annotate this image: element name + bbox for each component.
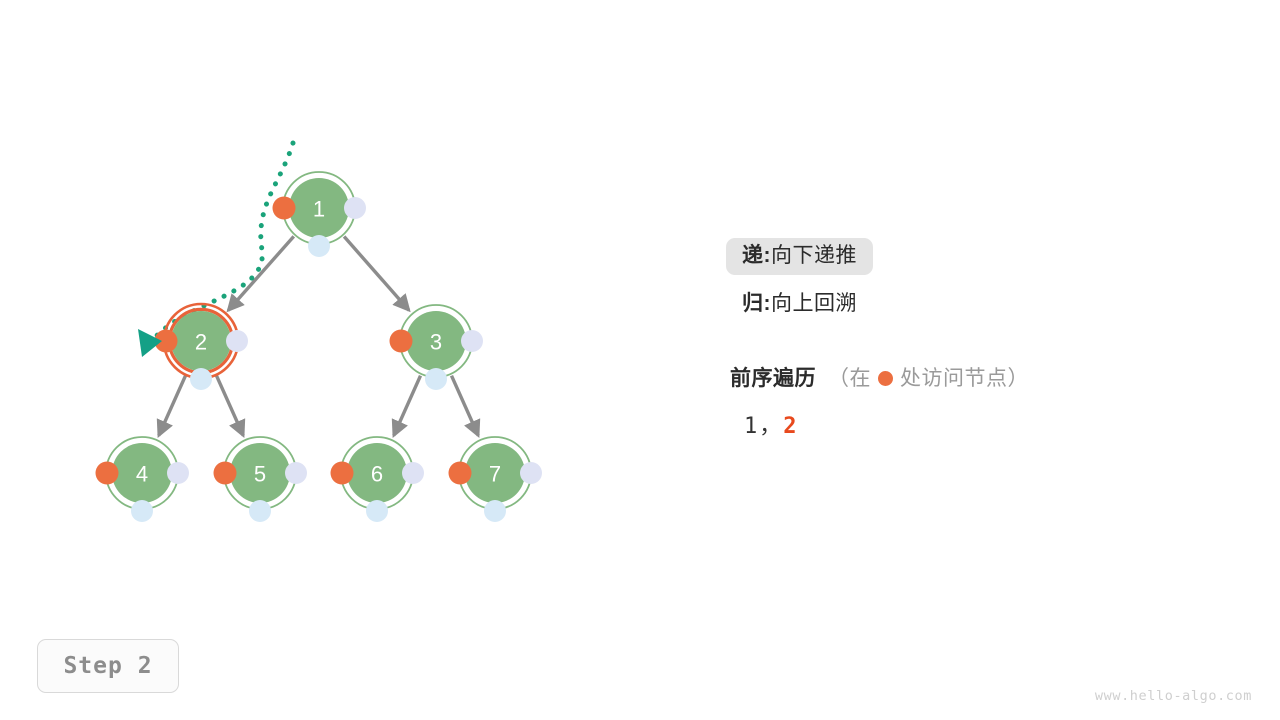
tree-node-7[interactable]: 7 [449,437,543,522]
node-label: 3 [430,330,442,355]
node-right-dot [402,462,424,484]
step-badge: Step 2 [37,639,179,693]
tree-edge [394,376,421,436]
node-visit-dot [449,462,472,485]
node-right-dot [461,330,483,352]
node-visit-dot [390,330,413,353]
traversal-note-after: 处访问节点） [900,362,1029,392]
node-right-dot [226,330,248,352]
node-label: 7 [489,462,501,487]
node-bottom-dot [484,500,506,522]
legend-panel: 递: 向下递推 归: 向上回溯 [726,232,1246,328]
traversal-heading: 前序遍历 （在 处访问节点） [730,362,1250,392]
node-label: 6 [371,462,383,487]
node-right-dot [285,462,307,484]
node-label: 5 [254,462,266,487]
node-visit-dot [214,462,237,485]
site-watermark: www.hello-algo.com [1095,688,1252,704]
node-bottom-dot [249,500,271,522]
binary-tree-diagram: 1234567 [0,0,1280,720]
tree-node-4[interactable]: 4 [96,437,190,522]
node-bottom-dot [131,500,153,522]
legend-row-recurse: 递: 向下递推 [726,232,1246,280]
traversal-sequence: 1，2 [744,408,1250,440]
step-badge-label: Step 2 [63,653,152,679]
tree-edge [159,376,186,436]
node-visit-dot [273,197,296,220]
legend-row-backtrack: 归: 向上回溯 [726,280,1246,328]
tree-node-5[interactable]: 5 [214,437,308,522]
node-right-dot [520,462,542,484]
legend-backtrack-key: 归: [742,293,771,314]
legend-badge-recurse: 递: 向下递推 [726,238,873,275]
tree-edge [344,237,409,311]
node-bottom-dot [366,500,388,522]
traversal-current: 2 [783,414,798,439]
traversal-visited: 1， [744,414,783,439]
traversal-panel: 前序遍历 （在 处访问节点） 1，2 [730,362,1250,440]
legend-backtrack-value: 向上回溯 [771,293,857,314]
node-bottom-dot [308,235,330,257]
node-right-dot [167,462,189,484]
tree-node-6[interactable]: 6 [331,437,425,522]
node-bottom-dot [190,368,212,390]
legend-recurse-key: 递: [742,245,771,266]
visit-marker-icon [878,371,893,386]
legend-recurse-value: 向下递推 [771,245,857,266]
node-label: 2 [195,330,207,355]
tree-node-3[interactable]: 3 [390,305,484,390]
traversal-note: （在 处访问节点） [828,362,1029,392]
node-label: 1 [313,197,325,222]
tree-edge [452,376,479,436]
traversal-note-before: （在 [828,362,871,392]
node-right-dot [344,197,366,219]
tree-node-2[interactable]: 2 [155,304,249,390]
diagram-stage: 1234567 递: 向下递推 归: 向上回溯 前序遍历 （在 处访问节点） [0,0,1280,720]
legend-badge-backtrack: 归: 向上回溯 [726,286,873,323]
tree-edge [217,376,244,436]
node-visit-dot [331,462,354,485]
traversal-title: 前序遍历 [730,362,816,392]
node-visit-dot [96,462,119,485]
tree-nodes: 1234567 [96,172,543,522]
node-label: 4 [136,462,148,487]
node-bottom-dot [425,368,447,390]
